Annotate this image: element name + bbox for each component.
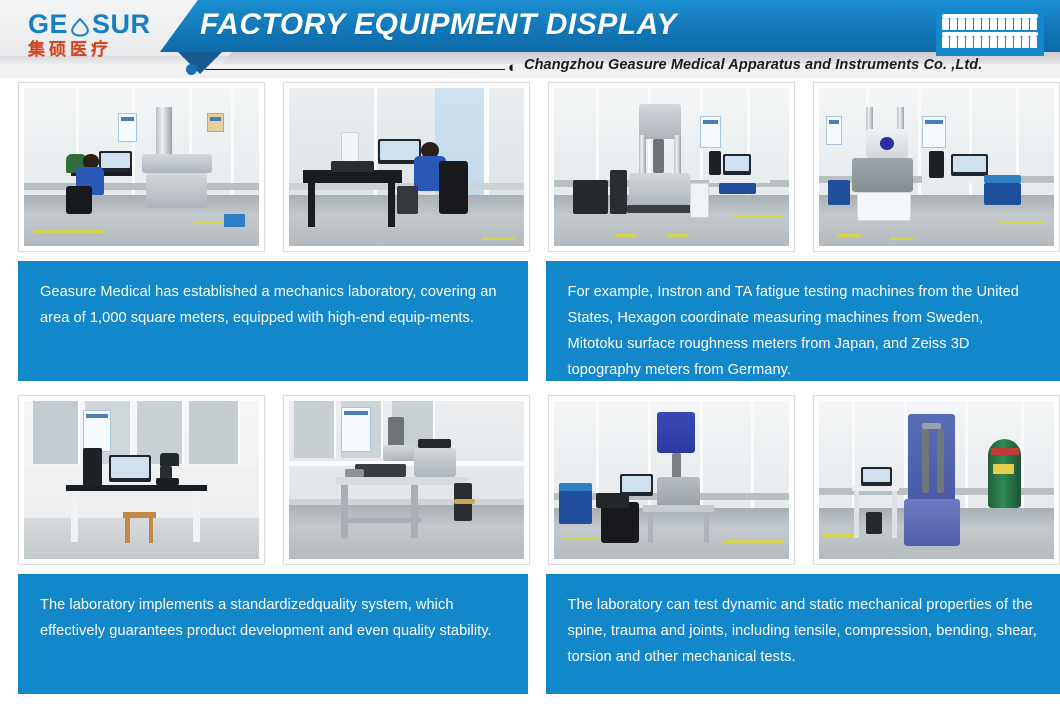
photo-3[interactable] [548, 82, 795, 252]
factory-equipment-display-page: FACTORY EQUIPMENT DISPLAY ◐ Changzhou Ge… [0, 0, 1060, 712]
caption-row-bottom: The laboratory implements a standardized… [0, 574, 1060, 694]
caption-row-top: Geasure Medical has established a mechan… [0, 261, 1060, 381]
photo-1-image [24, 88, 259, 246]
photo-7[interactable] [548, 395, 795, 565]
photo-7-image [554, 401, 789, 559]
half-circle-icon: ◐ [508, 60, 517, 75]
subtitle-bullet-dot [186, 64, 197, 75]
photo-2[interactable] [283, 82, 530, 252]
photo-8-image [819, 401, 1054, 559]
photo-4-image [819, 88, 1054, 246]
implant-screw-row-bottom [942, 35, 1038, 48]
page-title: FACTORY EQUIPMENT DISPLAY [200, 8, 677, 42]
logo-chinese-name: 集硕医疗 [28, 40, 178, 60]
photo-2-image [289, 88, 524, 246]
logo-word-right: SUR [92, 10, 151, 38]
caption-4: The laboratory can test dynamic and stat… [546, 574, 1060, 694]
photo-6-image [289, 401, 524, 559]
implant-screw-row-top [942, 17, 1038, 30]
content-grid: Geasure Medical has established a mechan… [0, 78, 1060, 712]
logo-word-left: GE [28, 10, 68, 38]
page-header: FACTORY EQUIPMENT DISPLAY ◐ Changzhou Ge… [0, 0, 1060, 78]
photo-5-image [24, 401, 259, 559]
spinal-implant-graphic [936, 8, 1044, 56]
photo-5[interactable] [18, 395, 265, 565]
photo-8[interactable] [813, 395, 1060, 565]
subtitle-rule [205, 69, 505, 70]
caption-2: For example, Instron and TA fatigue test… [546, 261, 1060, 381]
company-subtitle: Changzhou Geasure Medical Apparatus and … [524, 57, 982, 73]
caption-3: The laboratory implements a standardized… [18, 574, 528, 694]
caption-1: Geasure Medical has established a mechan… [18, 261, 528, 381]
photo-4[interactable] [813, 82, 1060, 252]
droplet-heart-icon [69, 15, 91, 37]
photo-row-top [0, 82, 1060, 252]
photo-row-bottom [0, 395, 1060, 565]
photo-6[interactable] [283, 395, 530, 565]
logo-wordmark: GE SUR [28, 10, 178, 38]
company-logo[interactable]: GE SUR 集硕医疗 [28, 10, 178, 58]
photo-3-image [554, 88, 789, 246]
photo-1[interactable] [18, 82, 265, 252]
